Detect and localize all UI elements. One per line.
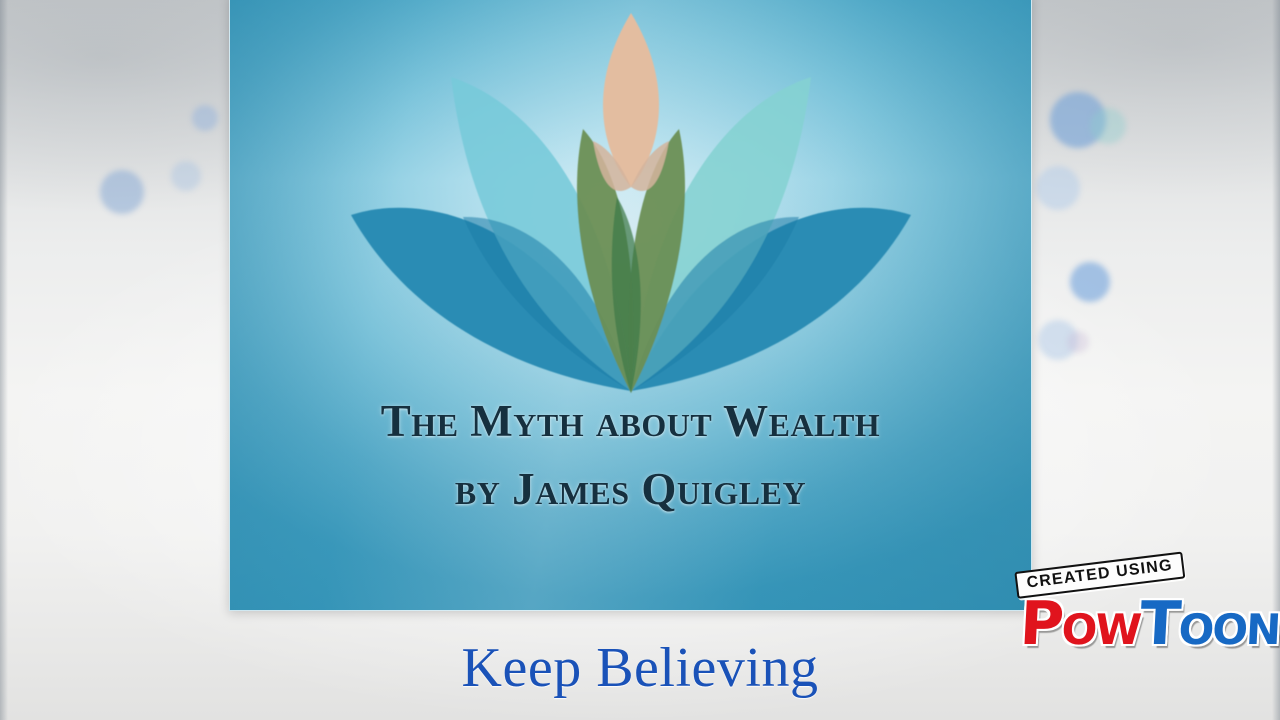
- slide-title-line-2: by James Quigley: [230, 467, 1031, 512]
- powtoon-wordmark-pow: Pow: [1018, 589, 1142, 659]
- slide-viewport: The Myth about Wealth by James Quigley K…: [0, 0, 1280, 720]
- bokeh-circle: [1090, 108, 1126, 144]
- powtoon-watermark[interactable]: CREATED USING PowToon: [1008, 568, 1280, 678]
- bokeh-circle: [192, 105, 218, 131]
- bokeh-circle: [1036, 166, 1080, 210]
- background-left-edge: [0, 0, 8, 720]
- slide-title-line-1: The Myth about Wealth: [230, 399, 1031, 444]
- bokeh-circle: [100, 170, 144, 214]
- bokeh-circle: [1067, 331, 1089, 353]
- slide-card: The Myth about Wealth by James Quigley: [229, 0, 1032, 611]
- bokeh-circle: [1070, 262, 1110, 302]
- lotus-flower-icon: [311, 1, 951, 401]
- title-block: The Myth about Wealth by James Quigley: [230, 399, 1031, 512]
- bokeh-circle: [171, 161, 201, 191]
- powtoon-wordmark: PowToon: [1018, 594, 1280, 654]
- powtoon-wordmark-toon: Toon: [1138, 589, 1280, 659]
